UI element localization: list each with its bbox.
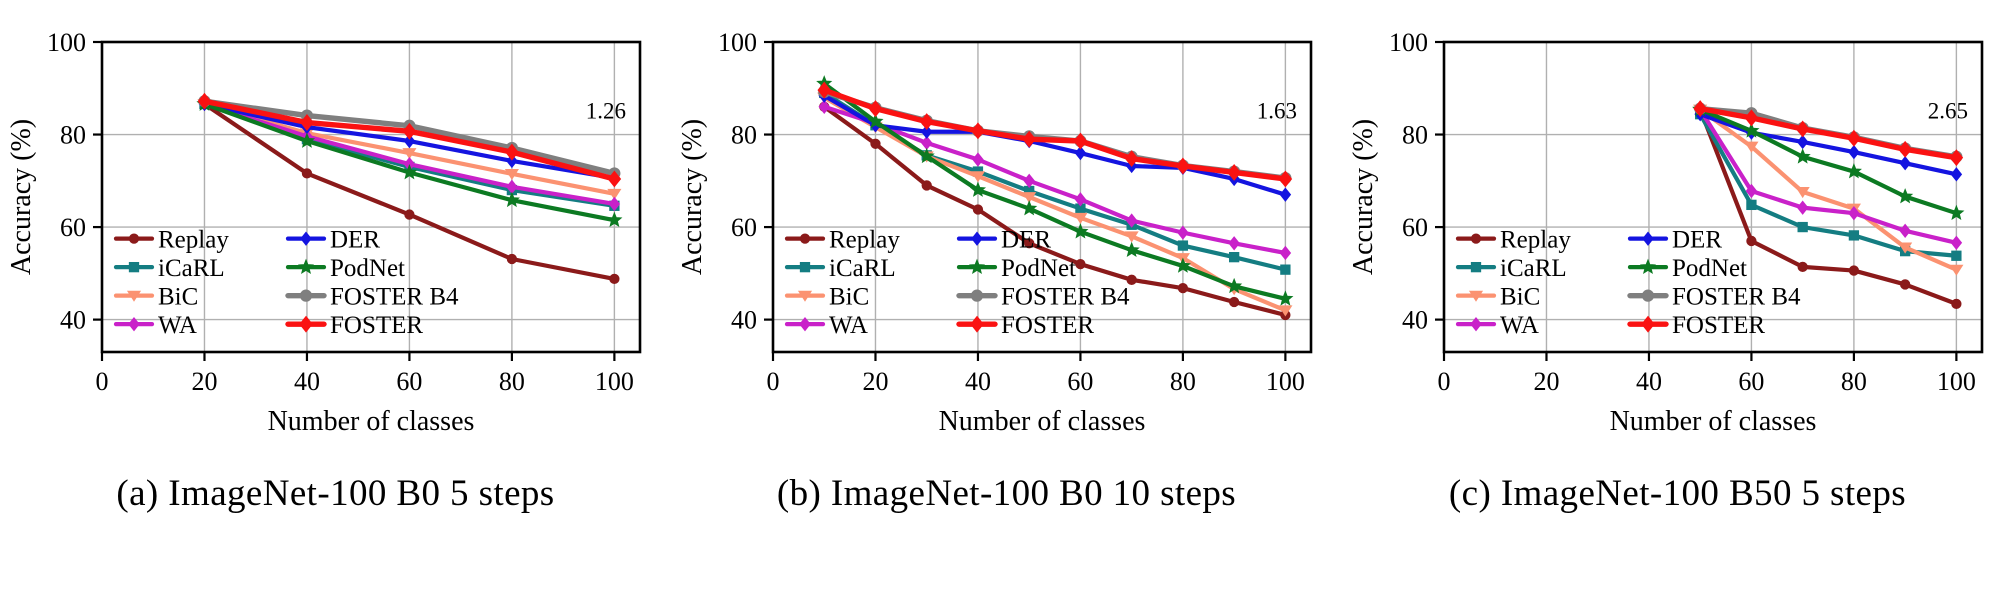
legend-entry-der[interactable]: DER bbox=[288, 227, 380, 254]
legend-entry-podnet[interactable]: PodNet bbox=[288, 255, 405, 282]
data-point-marker bbox=[1798, 136, 1808, 149]
y-tick-label: 40 bbox=[1402, 306, 1428, 335]
legend-label: BiC bbox=[158, 284, 198, 311]
legend-entry-icarl[interactable]: iCaRL bbox=[116, 255, 225, 282]
data-point-marker bbox=[1951, 168, 1961, 181]
y-tick-label: 100 bbox=[47, 28, 86, 57]
y-tick-label: 60 bbox=[60, 213, 86, 242]
legend-label: FOSTER B4 bbox=[330, 284, 459, 311]
data-point-marker bbox=[405, 210, 414, 219]
chart-panel-c: 020406080100406080100Number of classesAc… bbox=[1342, 0, 2013, 610]
y-tick-label: 80 bbox=[60, 121, 86, 150]
data-point-marker bbox=[1279, 171, 1291, 186]
y-axis-title: Accuracy (%) bbox=[6, 119, 37, 275]
data-point-marker bbox=[1950, 150, 1962, 165]
legend-label: iCaRL bbox=[1500, 255, 1567, 282]
data-point-marker bbox=[1798, 262, 1807, 271]
data-point-marker bbox=[970, 260, 984, 273]
legend-label: PodNet bbox=[1001, 255, 1076, 282]
legend-label: FOSTER bbox=[1001, 312, 1094, 339]
data-point-marker bbox=[1747, 200, 1756, 209]
data-point-marker bbox=[300, 316, 312, 331]
x-tick-label: 60 bbox=[1067, 367, 1093, 396]
x-axis-title: Number of classes bbox=[1610, 406, 1817, 437]
legend-label: Replay bbox=[829, 227, 900, 254]
x-axis-title: Number of classes bbox=[268, 406, 475, 437]
data-point-marker bbox=[507, 254, 516, 263]
data-point-marker bbox=[973, 205, 982, 214]
legend-entry-replay[interactable]: Replay bbox=[116, 227, 229, 254]
data-point-marker bbox=[971, 316, 983, 331]
x-tick-label: 100 bbox=[1266, 367, 1305, 396]
legend-label: FOSTER bbox=[1672, 312, 1765, 339]
data-point-marker bbox=[1642, 316, 1654, 331]
data-point-marker bbox=[1125, 243, 1139, 256]
x-tick-label: 60 bbox=[1738, 367, 1764, 396]
x-tick-label: 100 bbox=[595, 367, 634, 396]
data-point-marker bbox=[1849, 231, 1858, 240]
data-point-marker bbox=[1074, 133, 1086, 148]
x-tick-label: 80 bbox=[499, 367, 525, 396]
data-point-marker bbox=[1024, 174, 1034, 187]
legend-entry-wa[interactable]: WA bbox=[116, 312, 197, 339]
x-tick-label: 40 bbox=[965, 367, 991, 396]
annotation-gain-label: 2.65 bbox=[1928, 98, 1968, 123]
data-point-marker bbox=[1178, 241, 1187, 250]
plot-area-a: 020406080100406080100Number of classesAc… bbox=[0, 0, 671, 470]
legend-label: FOSTER B4 bbox=[1672, 284, 1801, 311]
legend-label: iCaRL bbox=[158, 255, 225, 282]
data-point-marker bbox=[973, 153, 983, 166]
legend-entry-foster[interactable]: FOSTER bbox=[959, 312, 1094, 339]
data-point-marker bbox=[1280, 247, 1290, 260]
data-point-marker bbox=[1076, 259, 1085, 268]
x-tick-label: 80 bbox=[1841, 367, 1867, 396]
data-point-marker bbox=[1642, 290, 1653, 301]
data-point-marker bbox=[1641, 260, 1655, 273]
data-point-marker bbox=[1280, 188, 1290, 201]
data-point-marker bbox=[1899, 142, 1911, 157]
data-point-marker bbox=[1177, 158, 1189, 173]
x-tick-label: 20 bbox=[1533, 367, 1559, 396]
legend-entry-wa[interactable]: WA bbox=[1458, 312, 1539, 339]
data-point-marker bbox=[610, 274, 619, 283]
x-tick-label: 20 bbox=[862, 367, 888, 396]
chart-svg-b: 020406080100406080100Number of classesAc… bbox=[671, 0, 1342, 470]
data-point-marker bbox=[1900, 280, 1909, 289]
data-point-marker bbox=[800, 262, 809, 271]
data-point-marker bbox=[1747, 236, 1756, 245]
legend-entry-icarl[interactable]: iCaRL bbox=[1458, 255, 1567, 282]
x-tick-label: 0 bbox=[1438, 367, 1451, 396]
legend-entry-foster-b4[interactable]: FOSTER B4 bbox=[1630, 284, 1801, 311]
chart-svg-a: 020406080100406080100Number of classesAc… bbox=[0, 0, 671, 470]
legend-entry-foster-b4[interactable]: FOSTER B4 bbox=[959, 284, 1130, 311]
legend-entry-wa[interactable]: WA bbox=[787, 312, 868, 339]
legend-entry-bic[interactable]: BiC bbox=[116, 284, 198, 311]
data-point-marker bbox=[1952, 251, 1961, 260]
x-tick-label: 40 bbox=[1636, 367, 1662, 396]
y-axis-title: Accuracy (%) bbox=[677, 119, 708, 275]
legend-entry-foster-b4[interactable]: FOSTER B4 bbox=[288, 284, 459, 311]
y-tick-label: 100 bbox=[1389, 28, 1428, 57]
legend-entry-replay[interactable]: Replay bbox=[787, 227, 900, 254]
legend-entry-foster[interactable]: FOSTER bbox=[288, 312, 423, 339]
data-point-marker bbox=[129, 262, 138, 271]
data-point-marker bbox=[129, 234, 138, 243]
chart-panel-b: 020406080100406080100Number of classesAc… bbox=[671, 0, 1342, 610]
data-point-marker bbox=[921, 114, 933, 129]
legend-label: WA bbox=[829, 312, 868, 339]
data-point-marker bbox=[1281, 265, 1290, 274]
data-point-marker bbox=[1848, 131, 1860, 146]
x-axis-title: Number of classes bbox=[939, 406, 1146, 437]
y-tick-label: 100 bbox=[718, 28, 757, 57]
legend-label: WA bbox=[1500, 312, 1539, 339]
legend-label: DER bbox=[330, 227, 380, 254]
data-point-marker bbox=[1229, 252, 1238, 261]
y-tick-label: 40 bbox=[60, 306, 86, 335]
chart-svg-c: 020406080100406080100Number of classesAc… bbox=[1342, 0, 2013, 470]
data-point-marker bbox=[1471, 234, 1480, 243]
data-point-marker bbox=[1178, 226, 1188, 239]
x-tick-label: 20 bbox=[191, 367, 217, 396]
x-tick-label: 100 bbox=[1937, 367, 1976, 396]
series-der bbox=[1695, 108, 1961, 181]
legend-label: Replay bbox=[1500, 227, 1571, 254]
annotation-gain-label: 1.26 bbox=[586, 98, 626, 123]
data-point-marker bbox=[1952, 299, 1961, 308]
data-point-marker bbox=[1951, 236, 1961, 249]
data-point-marker bbox=[1178, 283, 1187, 292]
series-path bbox=[1700, 110, 1956, 214]
plot-area-c: 020406080100406080100Number of classesAc… bbox=[1342, 0, 2013, 470]
data-point-marker bbox=[1229, 237, 1239, 250]
legend-label: WA bbox=[158, 312, 197, 339]
panel-caption-a: (a) ImageNet-100 B0 5 steps bbox=[0, 472, 671, 515]
legend-label: iCaRL bbox=[829, 255, 896, 282]
data-point-marker bbox=[1898, 189, 1912, 202]
legend-entry-replay[interactable]: Replay bbox=[1458, 227, 1571, 254]
y-tick-label: 60 bbox=[731, 213, 757, 242]
data-point-marker bbox=[302, 169, 311, 178]
data-point-marker bbox=[800, 234, 809, 243]
data-point-marker bbox=[871, 139, 880, 148]
data-point-marker bbox=[1229, 297, 1238, 306]
x-tick-label: 80 bbox=[1170, 367, 1196, 396]
data-point-marker bbox=[1900, 224, 1910, 237]
legend-label: BiC bbox=[1500, 284, 1540, 311]
legend-label: FOSTER bbox=[330, 312, 423, 339]
data-point-marker bbox=[299, 260, 313, 273]
legend-entry-podnet[interactable]: PodNet bbox=[1630, 255, 1747, 282]
plot-area-b: 020406080100406080100Number of classesAc… bbox=[671, 0, 1342, 470]
data-point-marker bbox=[1798, 222, 1807, 231]
legend-entry-bic[interactable]: BiC bbox=[1458, 284, 1540, 311]
data-point-marker bbox=[972, 123, 984, 138]
annotation-gain-label: 1.63 bbox=[1257, 98, 1297, 123]
data-point-marker bbox=[972, 232, 982, 245]
data-point-marker bbox=[300, 290, 311, 301]
data-point-marker bbox=[971, 290, 982, 301]
x-tick-label: 40 bbox=[294, 367, 320, 396]
data-point-marker bbox=[301, 232, 311, 245]
legend-label: DER bbox=[1672, 227, 1722, 254]
legend-entry-podnet[interactable]: PodNet bbox=[959, 255, 1076, 282]
legend-label: Replay bbox=[158, 227, 229, 254]
y-tick-label: 60 bbox=[1402, 213, 1428, 242]
data-point-marker bbox=[869, 101, 881, 116]
legend-label: FOSTER B4 bbox=[1001, 284, 1130, 311]
legend-entry-der[interactable]: DER bbox=[959, 227, 1051, 254]
data-point-marker bbox=[1643, 232, 1653, 245]
panel-caption-c: (c) ImageNet-100 B50 5 steps bbox=[1342, 472, 2013, 515]
legend-label: PodNet bbox=[1672, 255, 1747, 282]
y-tick-label: 40 bbox=[731, 306, 757, 335]
y-tick-label: 80 bbox=[731, 121, 757, 150]
series-path bbox=[1700, 109, 1956, 158]
x-tick-label: 0 bbox=[767, 367, 780, 396]
data-point-marker bbox=[1796, 150, 1810, 163]
legend-label: BiC bbox=[829, 284, 869, 311]
data-point-marker bbox=[1471, 262, 1480, 271]
series-der bbox=[819, 89, 1290, 201]
panel-caption-b: (b) ImageNet-100 B0 10 steps bbox=[671, 472, 1342, 515]
legend-entry-icarl[interactable]: iCaRL bbox=[787, 255, 896, 282]
y-tick-label: 80 bbox=[1402, 121, 1428, 150]
x-tick-label: 60 bbox=[396, 367, 422, 396]
data-point-marker bbox=[1849, 146, 1859, 159]
data-point-marker bbox=[1849, 266, 1858, 275]
data-point-marker bbox=[1900, 157, 1910, 170]
data-point-marker bbox=[922, 181, 931, 190]
legend-entry-der[interactable]: DER bbox=[1630, 227, 1722, 254]
chart-panel-a: 020406080100406080100Number of classesAc… bbox=[0, 0, 671, 610]
legend-label: PodNet bbox=[330, 255, 405, 282]
legend-entry-bic[interactable]: BiC bbox=[787, 284, 869, 311]
y-axis-title: Accuracy (%) bbox=[1348, 119, 1379, 275]
legend-entry-foster[interactable]: FOSTER bbox=[1630, 312, 1765, 339]
data-point-marker bbox=[1798, 201, 1808, 214]
x-tick-label: 0 bbox=[96, 367, 109, 396]
legend-label: DER bbox=[1001, 227, 1051, 254]
figure-root: 020406080100406080100Number of classesAc… bbox=[0, 0, 2013, 610]
